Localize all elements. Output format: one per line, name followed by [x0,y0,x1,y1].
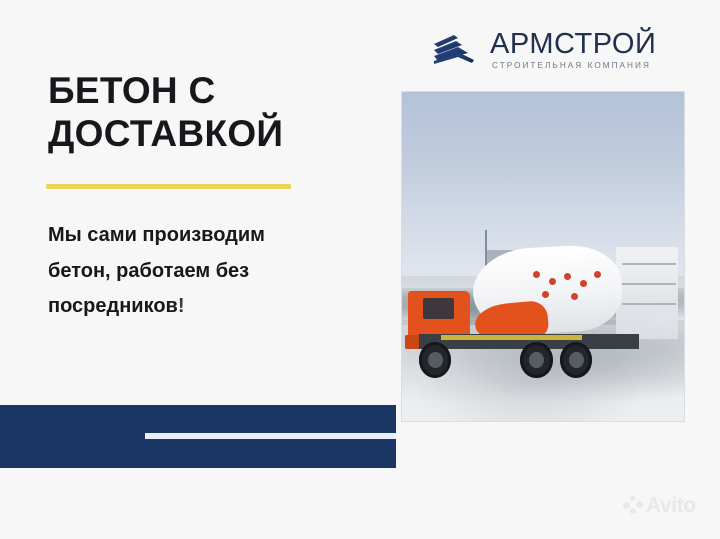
photo-wheel [520,342,552,378]
photo-chute-bar [622,303,676,305]
accent-divider [46,184,291,189]
stacked-layers-building-icon [428,30,484,70]
avito-dots-icon [623,496,643,516]
brand-wordmark: АРМСТРОЙ СТРОИТЕЛЬНАЯ КОМПАНИЯ [490,30,656,70]
brand-tagline: СТРОИТЕЛЬНАЯ КОМПАНИЯ [492,62,656,70]
avito-watermark-label: Avito [646,495,696,516]
hero-description-line-2: бетон, работаем без [48,260,249,282]
hero-description: Мы сами производим бетон, работаем без п… [48,218,368,325]
photo-drum-dot [549,278,556,285]
photo-drum-dot [580,280,587,287]
photo-drum-dot [571,293,578,300]
avito-watermark: Avito [623,495,696,516]
brand-name: АРМСТРОЙ [490,30,656,59]
page-title: БЕТОН С ДОСТАВКОЙ [48,70,378,156]
hero-description-line-3: посредников [48,295,178,317]
photo-mixer-chute [616,247,678,339]
photo-cab-window [423,298,454,319]
hero-description-line-1: Мы сами производим [48,224,265,246]
hero-description-exclamation: ! [178,295,185,317]
concrete-mixer-truck-photo [402,92,684,421]
photo-chute-bar [622,283,676,285]
photo-chassis-yellow-rail [441,335,582,340]
photo-drum-dot [542,291,549,298]
brand-logo: АРМСТРОЙ СТРОИТЕЛЬНАЯ КОМПАНИЯ [428,26,684,74]
photo-chute-bar [622,263,676,265]
footer-accent-line [145,433,396,439]
advertisement-canvas: АРМСТРОЙ СТРОИТЕЛЬНАЯ КОМПАНИЯ БЕТОН С Д… [0,0,720,539]
